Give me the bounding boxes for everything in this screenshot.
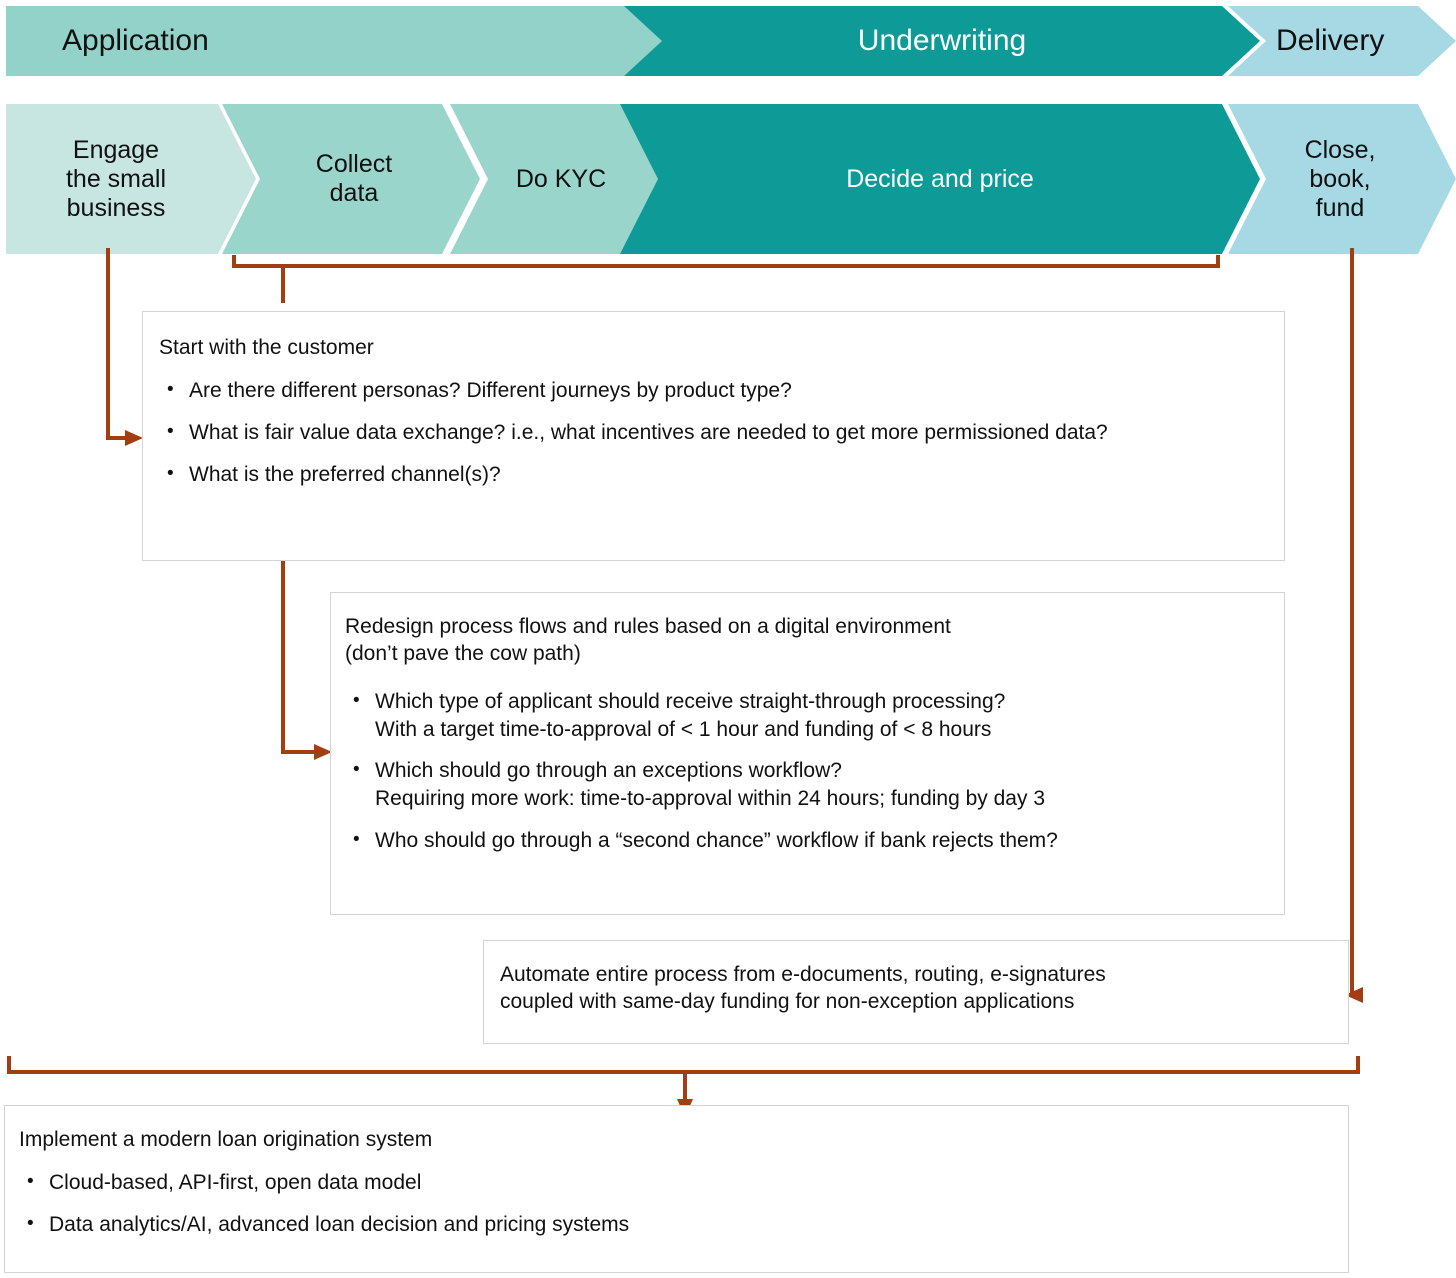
box-redesign-process-flows[interactable]: Redesign process flows and rules based o… — [330, 592, 1285, 915]
step-label-kyc: Do KYC — [516, 165, 606, 194]
box-bullets-los: Cloud-based, API-first, open data model … — [19, 1169, 1328, 1239]
box-heading-customer: Start with the customer — [159, 334, 1258, 361]
phase-chevron-application[interactable]: Application — [6, 6, 666, 76]
list-item: Which type of applicant should receive s… — [345, 688, 1258, 744]
box-automate-entire-process[interactable]: Automate entire process from e-documents… — [483, 940, 1349, 1044]
wire-bottom-bracket — [9, 1056, 1358, 1072]
list-item: Cloud-based, API-first, open data model — [19, 1169, 1328, 1197]
box-bullets-customer: Are there different personas? Different … — [159, 377, 1258, 489]
box-implement-los[interactable]: Implement a modern loan origination syst… — [4, 1105, 1349, 1273]
phase-chevron-delivery[interactable]: Delivery — [1228, 6, 1456, 76]
step-chevron-decide[interactable]: Decide and price — [620, 104, 1260, 254]
phase-label-underwriting: Underwriting — [858, 24, 1026, 59]
box-heading-redesign: Redesign process flows and rules based o… — [345, 613, 1258, 668]
step-label-decide: Decide and price — [846, 165, 1034, 194]
arrowhead-to-customer — [125, 430, 143, 446]
step-chevron-engage[interactable]: Engage the small business — [6, 104, 256, 254]
wire-customer-to-redesign — [283, 560, 320, 752]
step-chevron-close[interactable]: Close, book, fund — [1228, 104, 1456, 254]
list-item: What is fair value data exchange? i.e., … — [159, 419, 1258, 447]
step-label-close: Close, book, fund — [1305, 136, 1376, 223]
list-item: Which should go through an exceptions wo… — [345, 757, 1258, 813]
phase-label-delivery: Delivery — [1276, 24, 1384, 59]
box-bullets-redesign: Which type of applicant should receive s… — [345, 688, 1258, 856]
phase-chevron-underwriting[interactable]: Underwriting — [624, 6, 1260, 76]
box-heading-los: Implement a modern loan origination syst… — [19, 1126, 1328, 1153]
list-item: What is the preferred channel(s)? — [159, 461, 1258, 489]
step-label-collect: Collect data — [316, 150, 392, 208]
box-heading-automate: Automate entire process from e-documents… — [500, 961, 1328, 1016]
phase-label-application: Application — [62, 24, 209, 59]
wire-engage-to-customer — [108, 248, 131, 438]
step-chevron-collect[interactable]: Collect data — [222, 104, 480, 254]
box-start-with-the-customer[interactable]: Start with the customer Are there differ… — [142, 311, 1285, 561]
list-item: Who should go through a “second chance” … — [345, 827, 1258, 855]
list-item: Are there different personas? Different … — [159, 377, 1258, 405]
list-item: Data analytics/AI, advanced loan decisio… — [19, 1211, 1328, 1239]
step-label-engage: Engage the small business — [66, 136, 166, 223]
wire-steps-bracket — [234, 255, 1218, 266]
diagram-canvas: Application Underwriting Delivery Engage… — [0, 0, 1456, 1278]
wire-close-to-automate — [1352, 248, 1360, 995]
